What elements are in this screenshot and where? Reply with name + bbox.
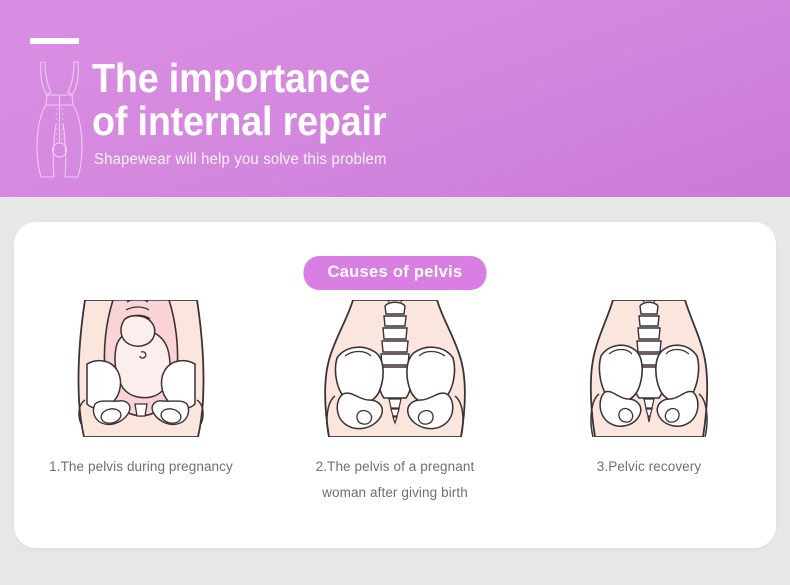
pelvis-stage-item-3: 3.Pelvic recovery <box>522 300 776 506</box>
caption-line-1: 2.The pelvis of a pregnant <box>316 459 475 474</box>
pelvis-stages-row: 1.The pelvis during pregnancy <box>14 300 776 506</box>
banner-subtitle: Shapewear will help you solve this probl… <box>94 151 387 169</box>
pelvis-stage-caption-2: 2.The pelvis of a pregnant woman after g… <box>285 454 505 506</box>
title-accent-dash <box>30 38 79 44</box>
pelvis-stage-item-1: 1.The pelvis during pregnancy <box>14 300 268 506</box>
pelvis-during-pregnancy-illustration <box>51 300 231 437</box>
pelvis-after-birth-illustration <box>305 300 485 437</box>
pelvis-stage-item-2: 2.The pelvis of a pregnant woman after g… <box>268 300 522 506</box>
pelvis-stage-caption-1: 1.The pelvis during pregnancy <box>31 454 251 480</box>
banner-title: The importance of internal repair <box>92 57 386 143</box>
caption-line-1: 3.Pelvic recovery <box>597 459 702 474</box>
shapewear-bodysuit-icon <box>28 58 92 180</box>
pelvic-recovery-illustration <box>559 300 739 437</box>
caption-line-1: 1.The pelvis during pregnancy <box>49 459 233 474</box>
header-banner: The importance of internal repair Shapew… <box>0 0 790 197</box>
caption-line-2: woman after giving birth <box>285 480 505 506</box>
banner-title-line-1: The importance <box>92 55 370 101</box>
content-card: Causes of pelvis <box>14 222 776 548</box>
section-badge: Causes of pelvis <box>303 256 486 290</box>
pelvis-stage-caption-3: 3.Pelvic recovery <box>539 454 759 480</box>
banner-title-line-2: of internal repair <box>92 100 386 143</box>
infographic-page: The importance of internal repair Shapew… <box>0 0 790 585</box>
